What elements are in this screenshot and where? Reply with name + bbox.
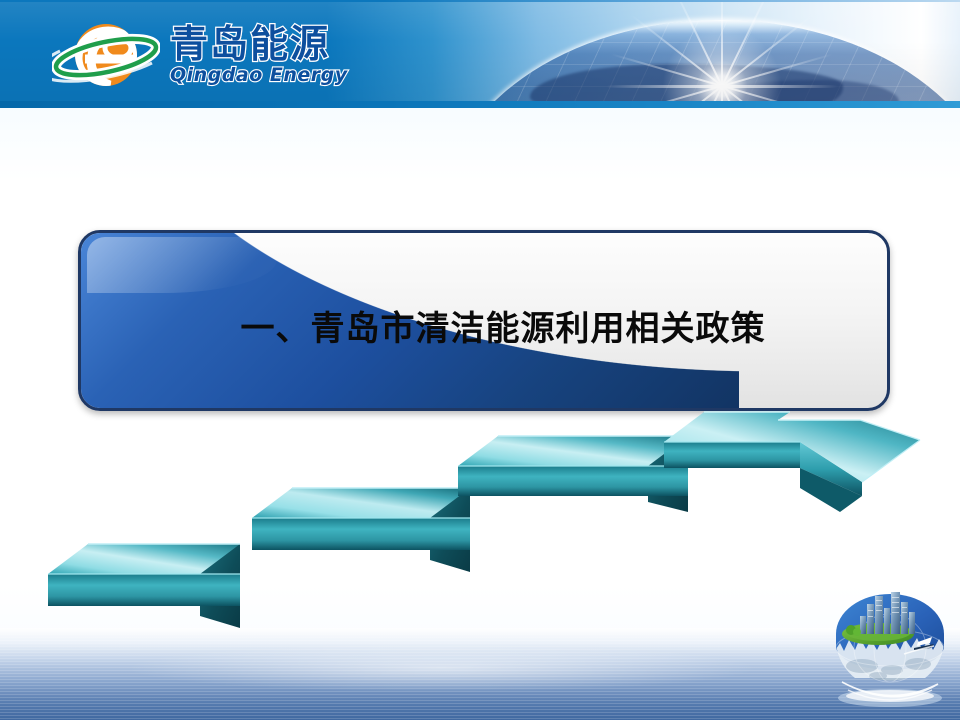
company-logo: 青岛能源 Qingdao Energy <box>52 16 348 94</box>
qingdao-energy-globe-e-logo <box>52 17 160 93</box>
step-1 <box>48 544 240 628</box>
page-title: 一、青岛市清洁能源利用相关政策 <box>81 301 887 350</box>
step-4-with-arrow <box>664 412 920 512</box>
ascending-steps-arrow-graphic <box>0 396 960 656</box>
wordmark-english: Qingdao Energy <box>170 66 348 85</box>
section-title-banner[interactable]: 一、青岛市清洁能源利用相关政策 <box>78 230 890 411</box>
step-3 <box>458 436 688 512</box>
presentation-slide: 青岛能源 Qingdao Energy 一、青岛市清洁能源利用相关政策 <box>0 0 960 720</box>
step-2 <box>252 488 470 572</box>
banner-bottom-rule <box>0 101 960 108</box>
brand-banner: 青岛能源 Qingdao Energy <box>0 0 960 108</box>
banner-top-rule <box>0 0 960 2</box>
eco-globe-city-ornament <box>826 586 954 710</box>
wordmark-chinese: 青岛能源 <box>170 25 348 63</box>
company-wordmark: 青岛能源 Qingdao Energy <box>170 25 348 85</box>
